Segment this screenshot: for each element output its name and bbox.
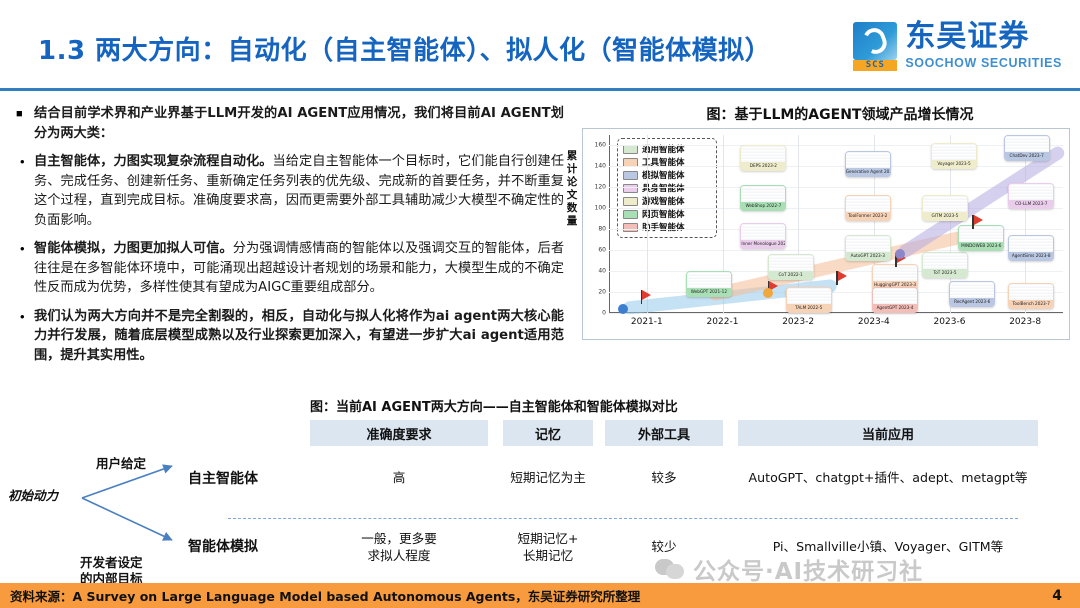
bullet-text: 我们认为两大方向并不是完全割裂的，相反，自动化与拟人化将作为ai agent两大… — [34, 307, 564, 366]
header-divider — [0, 88, 1080, 91]
milestone-flag-icon — [642, 290, 651, 300]
product-card-label: ToolFormer 2023-2 — [846, 212, 890, 220]
table-header-tools: 外部工具 — [605, 420, 723, 446]
chart-x-tick: 2023-6 — [934, 317, 966, 327]
product-thumbnail — [846, 196, 890, 212]
legend-label: 网页智能体 — [642, 208, 685, 220]
chart-product-card: CoT 2022-1 — [768, 254, 814, 280]
bullet-list: ■ 结合目前学术界和产业界基于LLM开发的AI AGENT应用情况，我们将目前A… — [16, 104, 564, 374]
product-card-label: AutoGPT 2023-3 — [846, 252, 890, 260]
chart-product-card: WebGPT 2021-12 — [686, 271, 732, 297]
chart-milestone-dot — [895, 249, 905, 259]
product-card-label: Voyager 2023-5 — [932, 160, 976, 168]
chart-product-card: ToolFormer 2023-2 — [845, 195, 891, 221]
product-card-label: AgentSims 2023-8 — [1009, 252, 1053, 260]
chart-y-tick: 140 — [595, 163, 606, 170]
chart-y-tick: 80 — [598, 226, 606, 233]
legend-label: 助手智能体 — [642, 221, 685, 233]
watermark: 公众号·AI技术研习社 — [655, 552, 923, 586]
page-title: 1.3 两大方向：自动化（自主智能体）、拟人化（智能体模拟） — [38, 30, 771, 67]
chart-product-card: ToolBench 2023-7 — [1008, 283, 1054, 309]
chart-product-card: CO-LLM 2023-7 — [1008, 183, 1054, 209]
product-thumbnail — [873, 265, 917, 281]
agent-growth-chart: 通用智能体工具智能体模拟智能体具身智能体游戏智能体网页智能体助手智能体 0204… — [582, 128, 1070, 340]
chart-legend-item: 模拟智能体 — [623, 169, 712, 181]
product-thumbnail — [932, 144, 976, 160]
product-thumbnail — [1005, 136, 1049, 152]
chart-product-card: Generative Agent 2023-4 — [845, 151, 891, 177]
product-card-label: DEPS 2023-2 — [741, 162, 785, 170]
logo-text-block: 东吴证券 SOOCHOW SECURITIES — [905, 22, 1062, 70]
chart-plot-area: 通用智能体工具智能体模拟智能体具身智能体游戏智能体网页智能体助手智能体 0204… — [609, 135, 1063, 313]
product-thumbnail — [950, 282, 994, 298]
chart-y-tick: 60 — [598, 247, 606, 254]
product-card-label: WebShop 2022-7 — [741, 202, 785, 210]
product-thumbnail — [741, 186, 785, 202]
table-cell-apps-r2: Pi、Smallville小镇、Voyager、GITM等 — [733, 538, 1043, 555]
brand-logo: SCS 东吴证券 SOOCHOW SECURITIES — [853, 22, 1062, 70]
product-thumbnail — [923, 196, 967, 212]
chart-gridline-h — [609, 166, 1063, 167]
legend-swatch-icon — [623, 210, 638, 219]
milestone-flag-icon — [974, 215, 983, 225]
watermark-text: 公众号·AI技术研习社 — [693, 552, 923, 586]
table-cell-accuracy-r1: 高 — [310, 469, 488, 486]
chart-x-tick: 2023-2 — [782, 317, 814, 327]
bullet-dot-icon: • — [16, 152, 34, 230]
product-card-label: CoT 2022-1 — [769, 271, 813, 279]
chart-product-card: AgentSims 2023-8 — [1008, 235, 1054, 261]
chart-legend-item: 助手智能体 — [623, 221, 712, 233]
chart-y-axis — [609, 135, 610, 313]
product-card-label: ToT 2023-5 — [923, 269, 967, 277]
chart-legend-item: 网页智能体 — [623, 208, 712, 220]
table-header-apps: 当前应用 — [738, 420, 1038, 446]
bubble-a-icon — [655, 559, 674, 575]
chart-product-card: MINDOWEB 2023-6 — [958, 225, 1004, 251]
table-header-memory: 记忆 — [503, 420, 593, 446]
table-header-accuracy: 准确度要求 — [310, 420, 488, 446]
comparison-caption: 图：当前AI AGENT两大方向——自主智能体和智能体模拟对比 — [310, 396, 678, 415]
bullet-body: 自主智能体，力图实现复杂流程自动化。当给定自主智能体一个目标时，它们能自行创建任… — [34, 152, 564, 230]
chart-gridline-h — [609, 145, 1063, 146]
bullet-square-icon: ■ — [16, 104, 34, 143]
legend-swatch-icon — [623, 197, 638, 206]
chart-y-tick: 40 — [598, 268, 606, 275]
chart-product-card: Inner Monologue 2022-7 — [740, 223, 786, 249]
list-item: ■ 结合目前学术界和产业界基于LLM开发的AI AGENT应用情况，我们将目前A… — [16, 104, 564, 143]
product-thumbnail — [846, 152, 890, 168]
product-card-label: RecAgent 2023-6 — [950, 298, 994, 306]
product-thumbnail — [741, 224, 785, 240]
product-card-label: ChatDev 2023-7 — [1005, 152, 1049, 160]
chart-y-tick: 120 — [595, 184, 606, 191]
slide-root: 1.3 两大方向：自动化（自主智能体）、拟人化（智能体模拟） SCS 东吴证券 … — [0, 0, 1080, 608]
product-card-label: Generative Agent 2023-4 — [846, 168, 890, 176]
product-card-label: CO-LLM 2023-7 — [1009, 200, 1053, 208]
product-card-label: WebGPT 2021-12 — [687, 288, 731, 296]
chart-gridline-h — [609, 313, 1063, 314]
chart-y-axis-label: 累计论文数量 — [563, 150, 581, 228]
table-cell-apps-r1: AutoGPT、chatgpt+插件、adept、metagpt等 — [733, 469, 1043, 486]
logo-text-en: SOOCHOW SECURITIES — [905, 56, 1062, 70]
bullet-lead: 智能体模拟，力图更加拟人可信。 — [34, 241, 233, 256]
product-thumbnail — [769, 255, 813, 271]
bubble-b-icon — [666, 564, 684, 579]
chart-product-card: RecAgent 2023-6 — [949, 281, 995, 307]
chart-x-tick: 2023-8 — [1009, 317, 1041, 327]
product-thumbnail — [959, 226, 1003, 242]
table-cell-accuracy-r2: 一般，更多要 求拟人程度 — [310, 530, 488, 564]
list-item: • 我们认为两大方向并不是完全割裂的，相反，自动化与拟人化将作为ai agent… — [16, 307, 564, 366]
chart-product-card: GITM 2023-5 — [922, 195, 968, 221]
bullet-body: 智能体模拟，力图更加拟人可信。分为强调情感情商的智能体以及强调交互的智能体，后者… — [34, 239, 564, 298]
chart-gridline-h — [609, 208, 1063, 209]
slide-footer: 资料来源：A Survey on Large Language Model ba… — [0, 583, 1080, 608]
product-thumbnail — [923, 253, 967, 269]
chart-product-card: ChatDev 2023-7 — [1004, 135, 1050, 161]
table-cell-memory-r1: 短期记忆为主 — [493, 469, 603, 486]
legend-label: 模拟智能体 — [642, 169, 685, 181]
branch-label-top: 用户给定 — [96, 456, 146, 472]
list-item: • 自主智能体，力图实现复杂流程自动化。当给定自主智能体一个目标时，它们能自行创… — [16, 152, 564, 230]
chart-legend-item: 游戏智能体 — [623, 195, 712, 207]
product-card-label: Inner Monologue 2022-7 — [741, 240, 785, 248]
legend-label: 游戏智能体 — [642, 195, 685, 207]
slide-header: 1.3 两大方向：自动化（自主智能体）、拟人化（智能体模拟） SCS 东吴证券 … — [0, 0, 1080, 92]
page-number: 4 — [1052, 588, 1062, 604]
chart-product-card: DEPS 2023-2 — [740, 145, 786, 171]
chart-y-tick: 20 — [598, 289, 606, 296]
milestone-flag-icon — [838, 271, 847, 281]
chart-x-tick: 2022-1 — [707, 317, 739, 327]
chart-product-card: AutoGPT 2023-3 — [845, 235, 891, 261]
product-thumbnail — [741, 146, 785, 162]
list-item: • 智能体模拟，力图更加拟人可信。分为强调情感情商的智能体以及强调交互的智能体，… — [16, 239, 564, 298]
logo-text-cn: 东吴证券 — [905, 22, 1062, 52]
product-card-label: MINDOWEB 2023-6 — [959, 242, 1003, 250]
bullet-lead: 自主智能体，力图实现复杂流程自动化。 — [34, 154, 273, 169]
product-thumbnail — [873, 288, 917, 304]
table-row-divider — [228, 518, 1018, 519]
product-thumbnail — [1009, 236, 1053, 252]
chart-product-card: Voyager 2023-5 — [931, 143, 977, 169]
chart-y-tick: 160 — [595, 142, 606, 149]
product-card-label: AgentGPT 2023-4 — [873, 304, 917, 312]
legend-swatch-icon — [623, 171, 638, 180]
product-thumbnail — [687, 272, 731, 288]
product-card-label: TALM 2022-5 — [787, 304, 831, 312]
chat-bubbles-icon — [655, 557, 685, 581]
product-card-label: ToolBench 2023-7 — [1009, 300, 1053, 308]
source-note: 资料来源：A Survey on Large Language Model ba… — [0, 586, 640, 605]
chart-y-tick: 0 — [602, 310, 606, 317]
logo-badge: SCS — [853, 60, 897, 71]
logo-mark-icon: SCS — [853, 22, 899, 70]
table-cell-tools-r1: 较多 — [605, 469, 723, 486]
product-thumbnail — [846, 236, 890, 252]
bullet-dot-icon: • — [16, 307, 34, 366]
chart-product-card: WebShop 2022-7 — [740, 185, 786, 211]
bullet-dot-icon: • — [16, 239, 34, 298]
chart-x-tick: 2021-1 — [631, 317, 663, 327]
chart-caption: 图：基于LLM的AGENT领域产品增长情况 — [616, 104, 1064, 124]
product-thumbnail — [1009, 184, 1053, 200]
table-cell-tools-r2: 较少 — [605, 538, 723, 555]
chart-x-tick: 2023-4 — [858, 317, 890, 327]
chart-product-card: AgentGPT 2023-4 — [872, 287, 918, 313]
driver-label: 初始动力 — [8, 488, 58, 504]
legend-swatch-icon — [623, 158, 638, 167]
chart-y-tick: 100 — [595, 205, 606, 212]
product-thumbnail — [787, 288, 831, 304]
chart-product-card: ToT 2023-5 — [922, 252, 968, 278]
chart-gridline-v — [647, 135, 648, 313]
bullet-text: 结合目前学术界和产业界基于LLM开发的AI AGENT应用情况，我们将目前AI … — [34, 104, 564, 143]
product-thumbnail — [1009, 284, 1053, 300]
table-cell-memory-r2: 短期记忆+ 长期记忆 — [493, 530, 603, 564]
chart-product-card: TALM 2022-5 — [786, 287, 832, 313]
product-card-label: GITM 2023-5 — [923, 212, 967, 220]
